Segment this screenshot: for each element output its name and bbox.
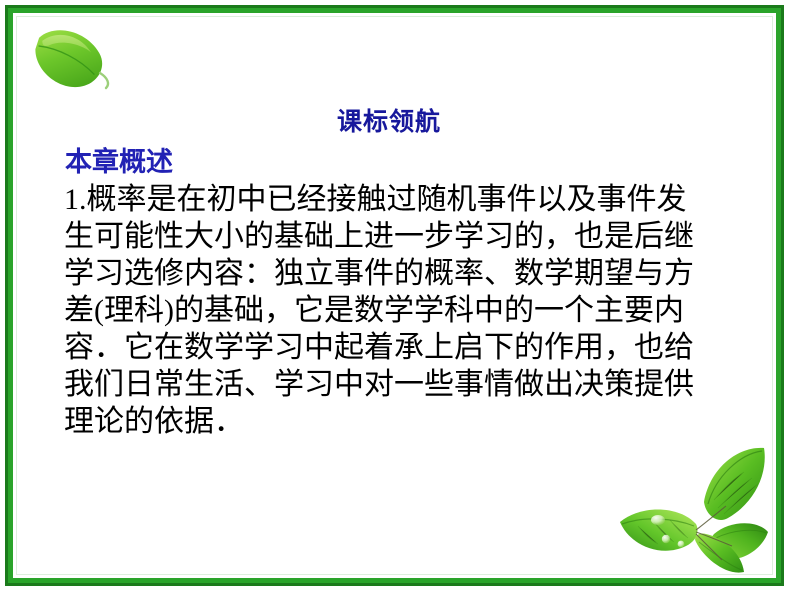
body-line: 1.概率是在初中已经接触过随机事件以及事件发 [64, 181, 744, 218]
slide-canvas: 课标领航 本章概述 1.概率是在初中已经接触过随机事件以及事件发 生可能性大小的… [0, 0, 794, 596]
body-line: 学习选修内容：独立事件的概率、数学期望与方 [64, 255, 744, 292]
section-subtitle: 本章概述 [65, 146, 173, 178]
body-text: 1.概率是在初中已经接触过随机事件以及事件发 生可能性大小的基础上进一步学习的，… [64, 181, 744, 440]
leaf-icon [28, 26, 114, 92]
body-line: 生可能性大小的基础上进一步学习的，也是后继 [64, 218, 744, 255]
body-line: 容．它在数学学习中起着承上启下的作用，也给 [64, 329, 744, 366]
body-line: 我们日常生活、学习中对一些事情做出决策提供 [64, 366, 744, 403]
body-line: 理论的依据． [64, 403, 744, 440]
body-line: 差(理科)的基础，它是数学学科中的一个主要内 [64, 292, 744, 329]
page-title: 课标领航 [337, 108, 441, 138]
leaf-cluster-icon [592, 442, 782, 582]
